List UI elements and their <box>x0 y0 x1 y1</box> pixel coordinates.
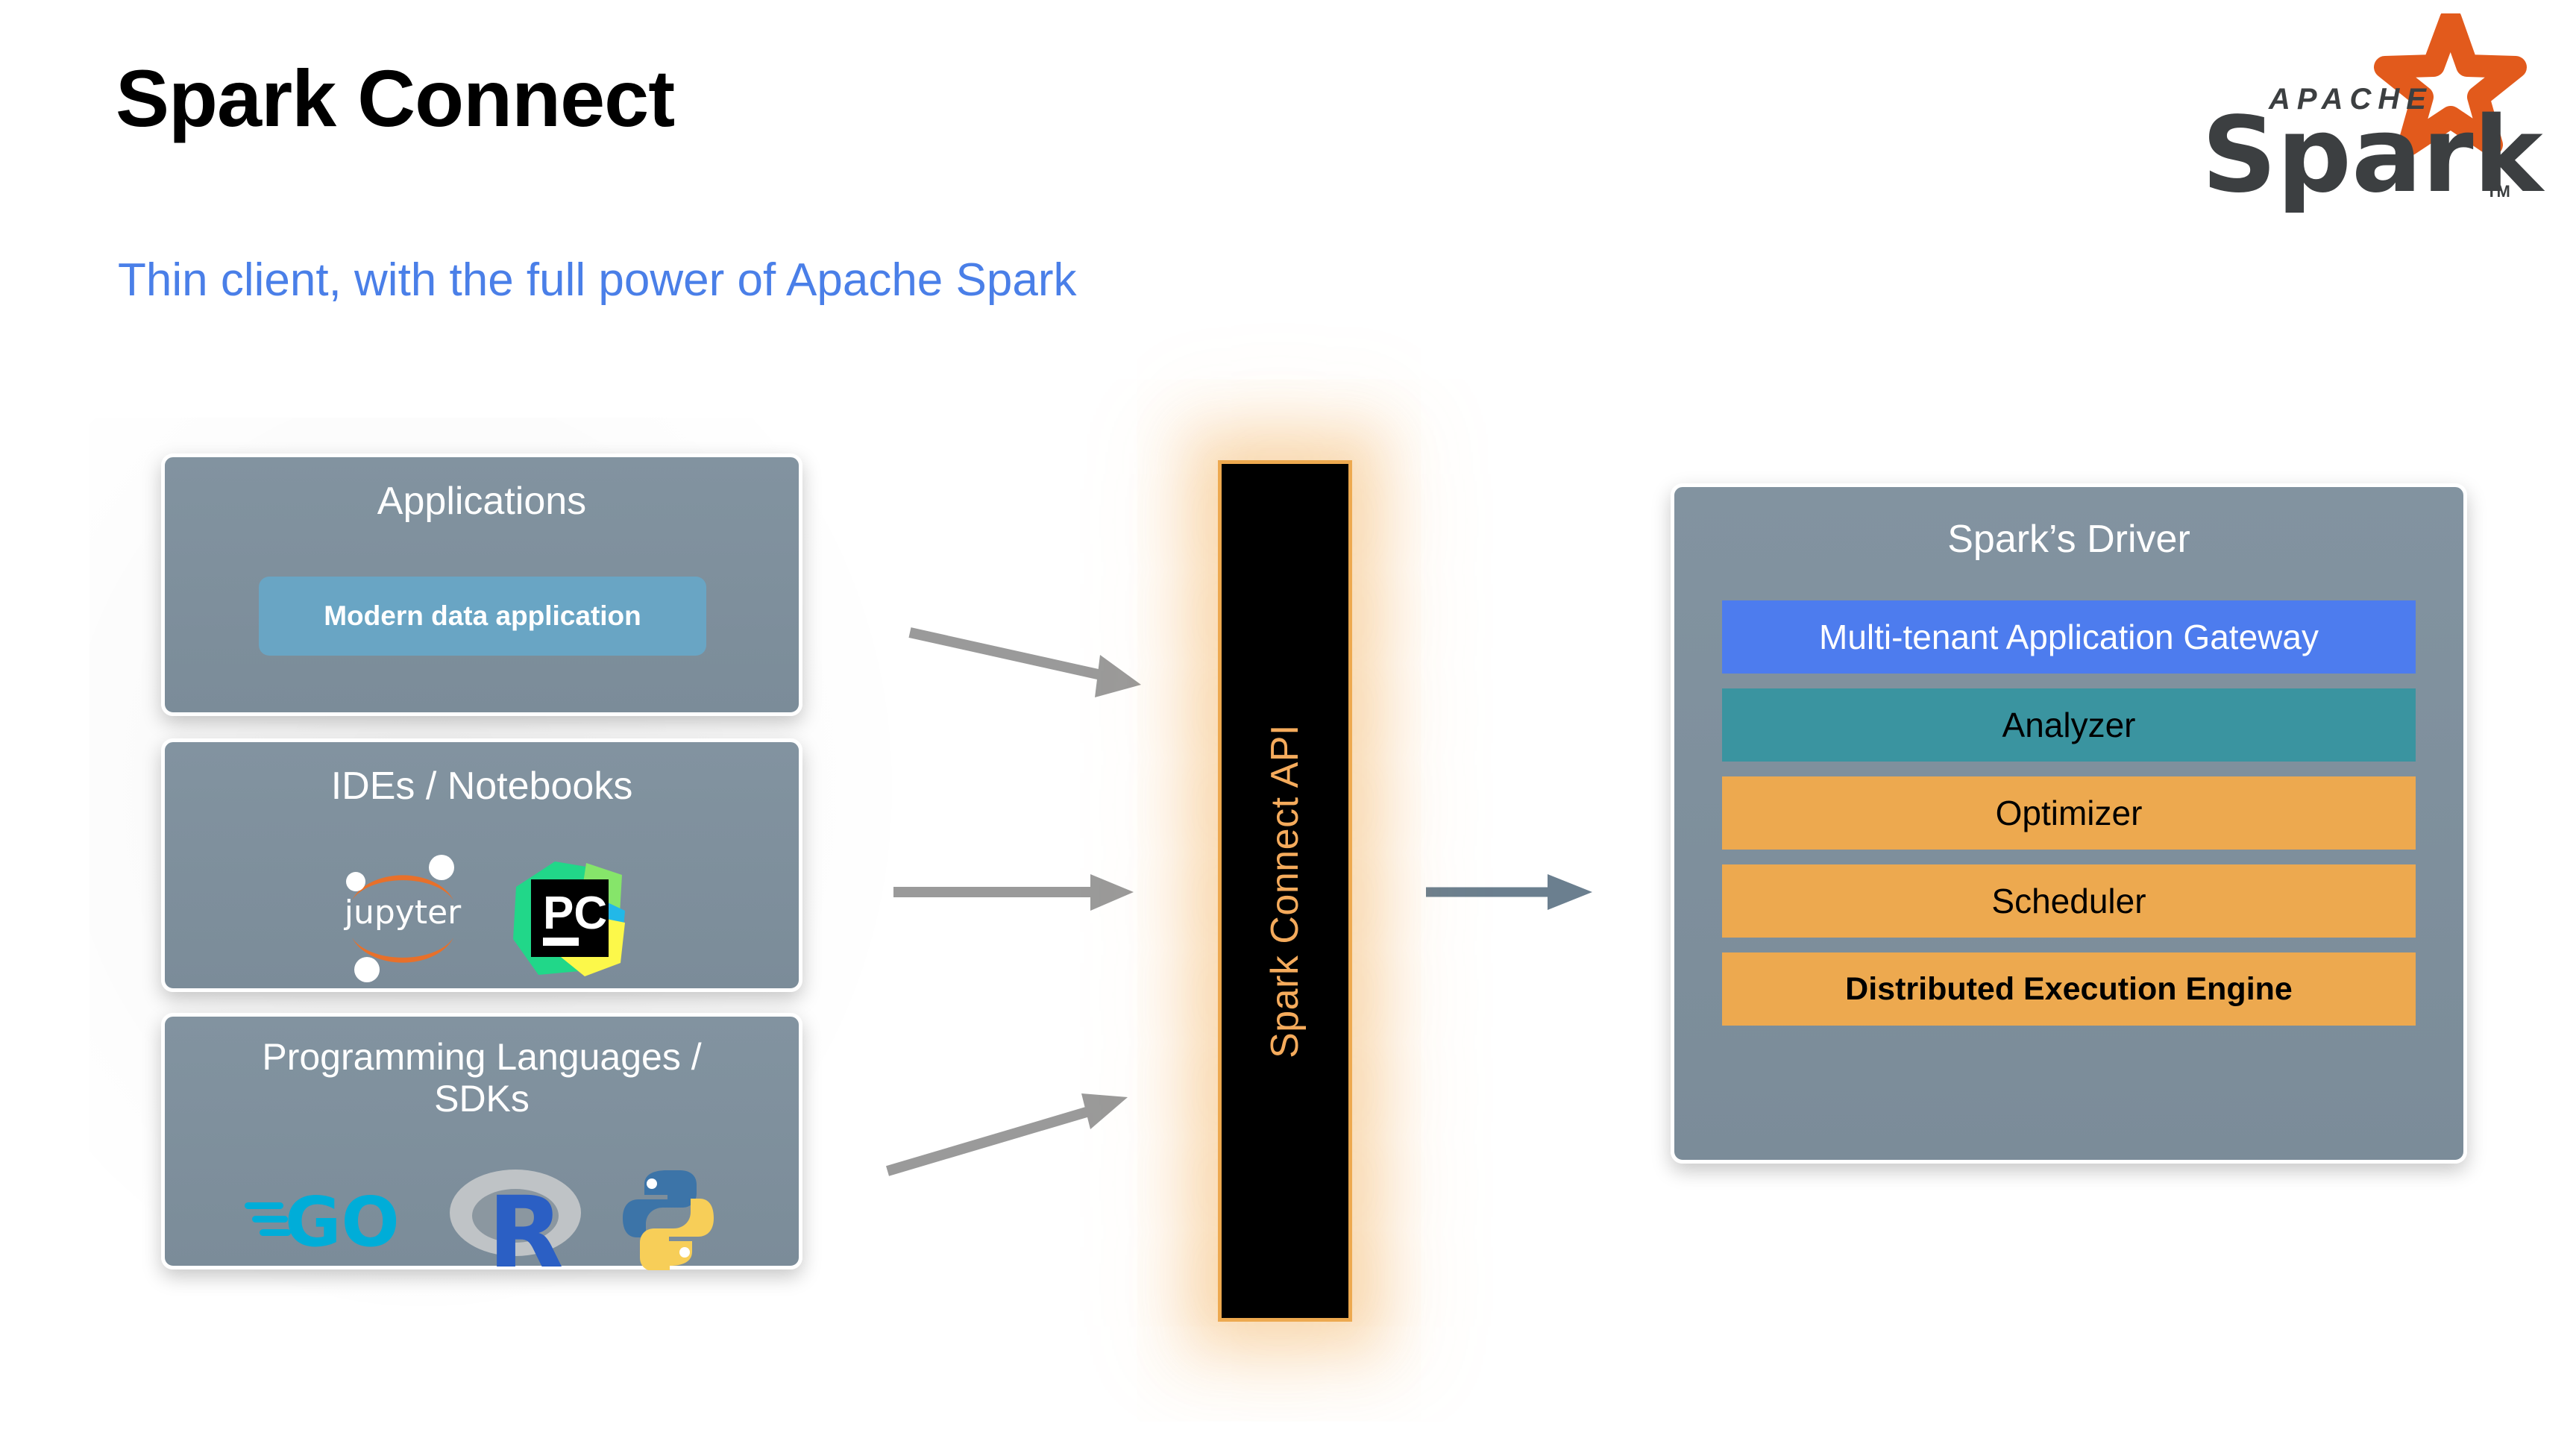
page-title: Spark Connect <box>116 58 674 139</box>
client-box-languages-title-line1: Programming Languages / <box>262 1036 701 1078</box>
svg-text:R: R <box>488 1176 564 1274</box>
arrow-applications-to-api <box>910 633 1141 697</box>
client-box-languages-title-line2: SDKs <box>434 1078 530 1120</box>
svg-text:GO: GO <box>285 1182 400 1259</box>
svg-text:PC: PC <box>543 888 607 939</box>
driver-row[interactable]: Scheduler <box>1722 864 2416 938</box>
r-icon: R <box>444 1162 586 1274</box>
arrow-ides-to-api <box>893 874 1134 911</box>
svg-text:TM: TM <box>2487 182 2510 201</box>
apache-spark-logo: APACHE Spark TM <box>2158 13 2546 215</box>
spark-driver-title: Spark’s Driver <box>1674 517 2463 562</box>
spark-connect-api-bar[interactable]: Spark Connect API <box>1218 460 1352 1322</box>
driver-row[interactable]: Optimizer <box>1722 776 2416 850</box>
ide-logo-row: jupyter PC <box>165 854 799 982</box>
python-icon <box>616 1166 720 1270</box>
jupyter-wordmark: jupyter <box>336 897 470 929</box>
spark-driver-panel[interactable]: Spark’s Driver Multi-tenant Application … <box>1671 483 2467 1164</box>
driver-component-list: Multi-tenant Application GatewayAnalyzer… <box>1722 600 2416 1026</box>
driver-row[interactable]: Analyzer <box>1722 688 2416 762</box>
arrow-api-to-driver <box>1426 874 1592 910</box>
driver-row[interactable]: Multi-tenant Application Gateway <box>1722 600 2416 674</box>
modern-data-application-chip[interactable]: Modern data application <box>259 577 706 656</box>
client-box-applications[interactable]: Applications Modern data application <box>161 453 802 716</box>
client-box-applications-title: Applications <box>165 480 799 523</box>
spark-connect-api-label: Spark Connect API <box>1263 724 1307 1058</box>
language-logo-row: GO R <box>165 1162 799 1274</box>
go-icon: GO <box>243 1177 415 1259</box>
client-box-languages-title: Programming Languages / SDKs <box>165 1036 799 1120</box>
driver-row[interactable]: Distributed Execution Engine <box>1722 952 2416 1026</box>
pycharm-icon: PC <box>509 859 628 978</box>
client-box-ides-notebooks[interactable]: IDEs / Notebooks jupyter PC <box>161 738 802 992</box>
jupyter-icon: jupyter <box>336 854 470 982</box>
client-box-ides-title: IDEs / Notebooks <box>165 765 799 808</box>
page-subtitle: Thin client, with the full power of Apac… <box>118 257 1076 304</box>
client-box-programming-languages[interactable]: Programming Languages / SDKs GO R <box>161 1013 802 1269</box>
arrow-languages-to-api <box>888 1093 1128 1171</box>
